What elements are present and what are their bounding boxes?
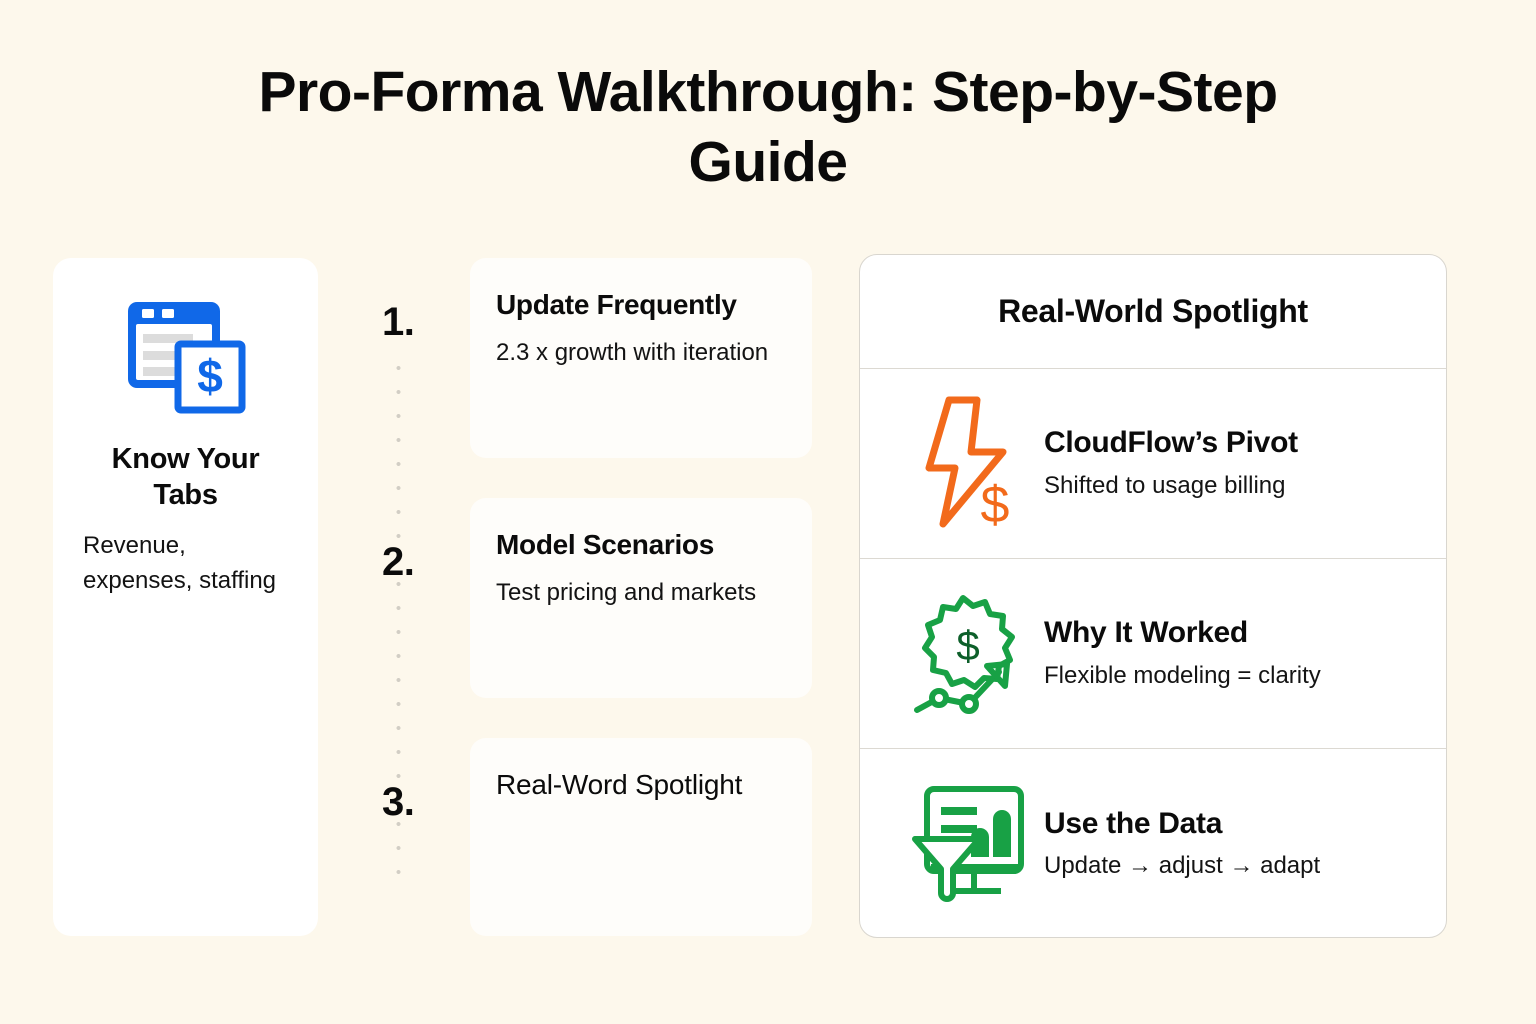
panel-header: Real-World Spotlight — [860, 255, 1446, 369]
step-item: 3. Real-Word Spotlight — [372, 738, 812, 936]
panel-row: Use the Data Update → adjust → adapt — [860, 749, 1446, 938]
step-title: Update Frequently — [496, 288, 782, 322]
real-world-spotlight-panel: Real-World Spotlight $ CloudFlow’s Pivot… — [859, 254, 1447, 938]
panel-row: $ CloudFlow’s Pivot Shifted to usage bil… — [860, 369, 1446, 559]
panel-row-title: Use the Data — [1044, 807, 1416, 842]
step-number: 3. — [372, 738, 470, 822]
steps-column: 1. Update Frequently 2.3 x growth with i… — [372, 258, 812, 948]
infographic-canvas: Pro-Forma Walkthrough: Step-by-Step Guid… — [0, 0, 1536, 1024]
step-card: Real-Word Spotlight — [470, 738, 812, 936]
left-card-body: Revenue, expenses, staffing — [79, 529, 292, 598]
panel-row-description: Update → adjust → adapt — [1044, 852, 1416, 881]
panel-header-title: Real-World Spotlight — [998, 293, 1308, 330]
panel-row-title: Why It Worked — [1044, 616, 1416, 651]
svg-text:$: $ — [956, 622, 979, 669]
panel-row: $ Why It Worked Flexible modeling = clar… — [860, 559, 1446, 749]
lightning-bolt-dollar-icon: $ — [906, 394, 1036, 534]
panel-row-text: Why It Worked Flexible modeling = clarit… — [1036, 616, 1416, 690]
step-description: 2.3 x growth with iteration — [496, 336, 782, 370]
step-card: Model Scenarios Test pricing and markets — [470, 498, 812, 698]
step-number: 1. — [372, 258, 470, 342]
panel-row-text: Use the Data Update → adjust → adapt — [1036, 807, 1416, 881]
panel-row-text: CloudFlow’s Pivot Shifted to usage billi… — [1036, 426, 1416, 500]
monitor-chart-funnel-icon — [906, 781, 1036, 907]
panel-row-title: CloudFlow’s Pivot — [1044, 426, 1416, 461]
know-your-tabs-card: $ Know Your Tabs Revenue, expenses, staf… — [53, 258, 318, 936]
step-title: Model Scenarios — [496, 528, 782, 562]
page-title: Pro-Forma Walkthrough: Step-by-Step Guid… — [198, 58, 1338, 197]
step-card: Update Frequently 2.3 x growth with iter… — [470, 258, 812, 458]
step-title: Real-Word Spotlight — [496, 768, 782, 802]
browser-window-dollar-icon: $ — [79, 296, 292, 436]
step-item: 2. Model Scenarios Test pricing and mark… — [372, 498, 812, 698]
step-description: Test pricing and markets — [496, 576, 782, 610]
left-card-title: Know Your Tabs — [79, 442, 292, 513]
panel-row-description: Shifted to usage billing — [1044, 472, 1416, 501]
svg-text:$: $ — [981, 476, 1010, 534]
panel-row-description: Flexible modeling = clarity — [1044, 662, 1416, 691]
svg-text:$: $ — [197, 350, 223, 402]
step-number: 2. — [372, 498, 470, 582]
gear-dollar-growth-icon: $ — [906, 592, 1036, 716]
step-item: 1. Update Frequently 2.3 x growth with i… — [372, 258, 812, 458]
